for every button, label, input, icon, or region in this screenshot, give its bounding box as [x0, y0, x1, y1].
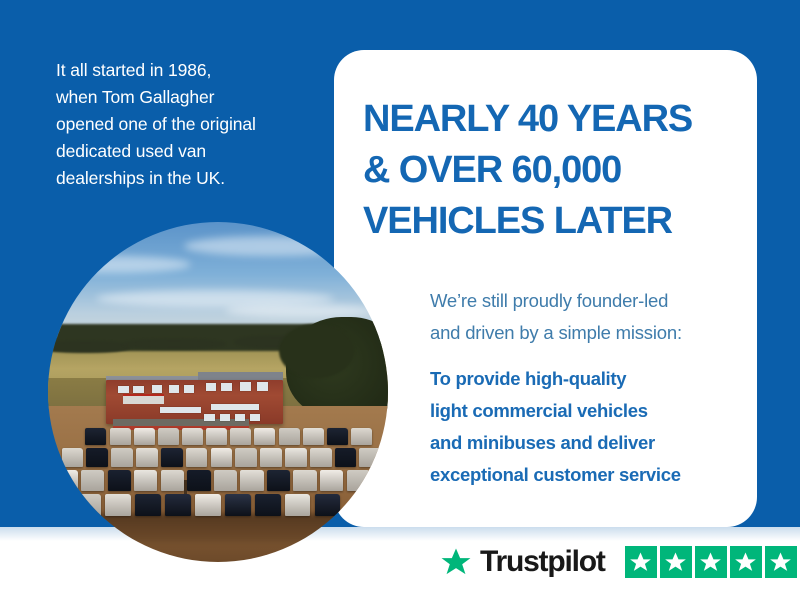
parked-van [161, 448, 183, 467]
parked-van [285, 494, 311, 516]
building-sign [123, 394, 164, 404]
building-window [240, 382, 251, 390]
parked-van [320, 470, 343, 490]
content-card: NEARLY 40 YEARS & OVER 60,000 VEHICLES L… [334, 50, 757, 527]
headline-line: NEARLY 40 YEARS [363, 94, 743, 145]
hedge [123, 339, 225, 349]
headline-line: VEHICLES LATER [363, 196, 743, 247]
van-row [48, 470, 388, 490]
parked-van [81, 470, 104, 490]
parked-van [211, 448, 233, 467]
star-icon [664, 551, 687, 574]
star-tile [765, 546, 797, 578]
building-window [211, 404, 259, 410]
parked-van [86, 448, 108, 467]
trustpilot-star-icon [440, 547, 472, 578]
parked-van [293, 470, 316, 490]
parked-van [110, 428, 131, 445]
parked-van [303, 428, 324, 445]
parked-van [134, 470, 157, 490]
parked-van [186, 448, 208, 467]
building-window [133, 386, 144, 393]
parked-van [136, 448, 158, 467]
parked-van [347, 470, 370, 490]
hedge [48, 341, 130, 353]
building-window [169, 385, 179, 392]
parked-van [85, 428, 106, 445]
building-window [250, 414, 260, 421]
parked-van [55, 470, 78, 490]
subtitle: We’re still proudly founder-led and driv… [430, 285, 750, 349]
star-tile [730, 546, 762, 578]
van-row [48, 494, 388, 516]
parked-van [75, 494, 101, 516]
promo-banner: It all started in 1986, when Tom Gallagh… [0, 0, 800, 600]
parked-van [134, 428, 155, 445]
parked-van [310, 448, 332, 467]
parked-van [240, 470, 263, 490]
parked-van [135, 494, 161, 516]
page-title: NEARLY 40 YEARS & OVER 60,000 VEHICLES L… [363, 94, 743, 247]
trustpilot-wordmark: Trustpilot [480, 547, 605, 577]
building-window [204, 414, 214, 421]
parked-van [267, 470, 290, 490]
photo-scene [48, 222, 388, 562]
mission-line: exceptional customer service [430, 459, 750, 491]
intro-line: dedicated used van [56, 138, 306, 165]
subtitle-line: We’re still proudly founder-led [430, 285, 750, 317]
intro-paragraph: It all started in 1986, when Tom Gallagh… [56, 57, 306, 192]
parked-van [62, 448, 84, 467]
building-window [206, 383, 216, 391]
mission-line: light commercial vehicles [430, 395, 750, 427]
building-window [235, 414, 245, 421]
intro-line: opened one of the original [56, 111, 306, 138]
trustpilot-rating[interactable]: Trustpilot [440, 542, 797, 582]
star-rating [625, 546, 797, 578]
parked-van [187, 470, 210, 490]
parked-van [161, 470, 184, 490]
parked-van [158, 428, 179, 445]
parked-van [255, 494, 281, 516]
parked-van [214, 470, 237, 490]
parked-van [285, 448, 307, 467]
intro-line: It all started in 1986, [56, 57, 306, 84]
intro-line: dealerships in the UK. [56, 165, 306, 192]
subtitle-line: and driven by a simple mission: [430, 317, 750, 349]
star-icon [769, 551, 792, 574]
tree [279, 324, 354, 378]
building-window [221, 383, 231, 391]
mission-line: and minibuses and deliver [430, 427, 750, 459]
parked-van [335, 448, 357, 467]
building-window [152, 385, 162, 392]
ground-shadow [48, 514, 388, 541]
van-row [48, 428, 388, 445]
parked-van [359, 448, 381, 467]
parked-van [108, 470, 131, 490]
star-icon [734, 551, 757, 574]
parked-van [260, 448, 282, 467]
parked-van [351, 428, 372, 445]
building-roof [198, 372, 283, 379]
building-window [118, 386, 129, 393]
dealership-photo [48, 222, 388, 562]
parked-van [182, 428, 203, 445]
van-row [48, 448, 388, 467]
parked-van [165, 494, 191, 516]
parked-van [195, 494, 221, 516]
building-window [184, 385, 194, 392]
parked-van [254, 428, 275, 445]
parked-van [206, 428, 227, 445]
parked-van [235, 448, 257, 467]
cloud [184, 236, 361, 256]
parked-van [111, 448, 133, 467]
parked-van [327, 428, 348, 445]
star-tile [695, 546, 727, 578]
building-window [220, 414, 230, 421]
star-tile [660, 546, 692, 578]
building-window [160, 407, 201, 412]
intro-line: when Tom Gallagher [56, 84, 306, 111]
headline-line: & OVER 60,000 [363, 145, 743, 196]
parked-van [105, 494, 131, 516]
cloud [225, 304, 375, 318]
star-icon [699, 551, 722, 574]
star-tile [625, 546, 657, 578]
parked-van [230, 428, 251, 445]
mission-statement: To provide high-quality light commercial… [430, 363, 750, 491]
parked-van [279, 428, 300, 445]
parked-van [315, 494, 341, 516]
building-window [257, 382, 268, 390]
parked-van [225, 494, 251, 516]
mission-line: To provide high-quality [430, 363, 750, 395]
star-icon [629, 551, 652, 574]
